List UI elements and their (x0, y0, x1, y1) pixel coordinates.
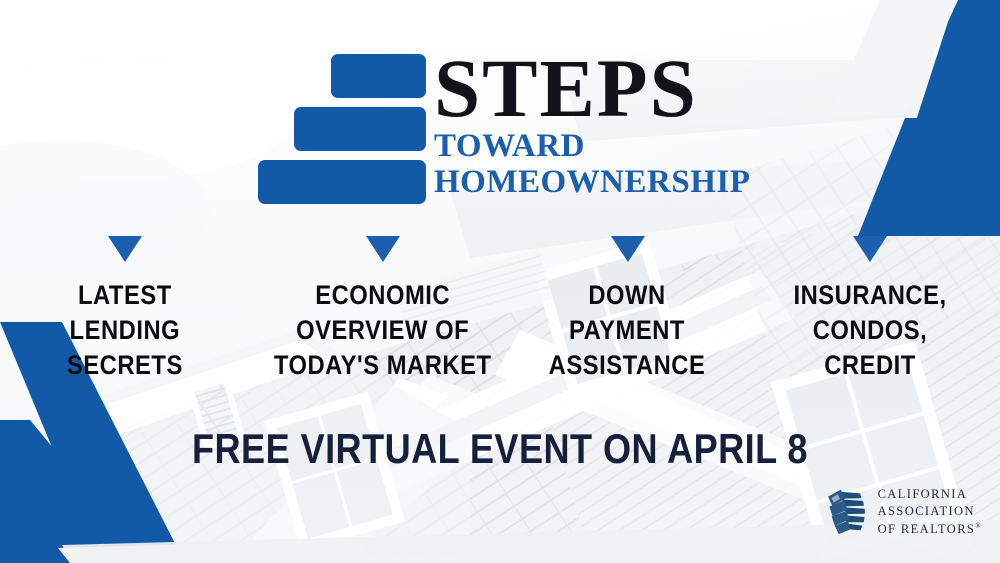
car-logo-line3: OF REALTORS (878, 522, 976, 536)
car-logo-line2: ASSOCIATION (878, 503, 982, 521)
topic-column-lending: LATEST LENDING SECRETS (0, 236, 250, 383)
step-bar-top-icon (331, 54, 426, 98)
topic-label-economic: ECONOMIC OVERVIEW OF TODAY'S MARKET (274, 278, 492, 383)
topic-label-insurance: INSURANCE, CONDOS, CREDIT (793, 278, 946, 383)
down-triangle-marker-icon (108, 236, 142, 262)
topic-column-down-payment: DOWN PAYMENT ASSISTANCE (515, 236, 740, 383)
down-triangle-marker-icon (853, 236, 887, 262)
registered-trademark-icon: ® (975, 522, 982, 530)
car-logo-text: CALIFORNIA ASSOCIATION OF REALTORS® (878, 486, 982, 539)
down-triangle-marker-icon (366, 236, 400, 262)
steps-tagline-line1: TOWARD (434, 129, 750, 165)
step-bar-bottom-icon (258, 160, 426, 204)
topic-columns: LATEST LENDING SECRETS ECONOMIC OVERVIEW… (0, 236, 1000, 383)
topic-column-insurance: INSURANCE, CONDOS, CREDIT (740, 236, 1000, 383)
steps-logo-lockup: STEPS TOWARD HOMEOWNERSHIP (258, 52, 758, 212)
step-bar-middle-icon (294, 107, 426, 151)
steps-tagline-line2: HOMEOWNERSHIP (434, 165, 750, 201)
car-diamond-emblem-icon (823, 483, 869, 541)
steps-wordmark-group: STEPS TOWARD HOMEOWNERSHIP (434, 52, 750, 200)
steps-wordmark: STEPS (434, 52, 750, 125)
down-triangle-marker-icon (611, 236, 645, 262)
california-association-of-realtors-logo: CALIFORNIA ASSOCIATION OF REALTORS® (823, 483, 982, 541)
steps-tagline: TOWARD HOMEOWNERSHIP (434, 129, 750, 200)
topic-column-economic: ECONOMIC OVERVIEW OF TODAY'S MARKET (250, 236, 515, 383)
steps-bar-graphic (258, 52, 426, 202)
topic-label-down-payment: DOWN PAYMENT ASSISTANCE (549, 278, 706, 383)
car-logo-line1: CALIFORNIA (878, 486, 982, 504)
topic-label-lending: LATEST LENDING SECRETS (67, 278, 183, 383)
event-headline: FREE VIRTUAL EVENT ON APRIL 8 (70, 425, 930, 473)
promo-poster: STEPS TOWARD HOMEOWNERSHIP LATEST LENDIN… (0, 0, 1000, 563)
car-logo-line3-wrap: OF REALTORS® (878, 521, 982, 539)
